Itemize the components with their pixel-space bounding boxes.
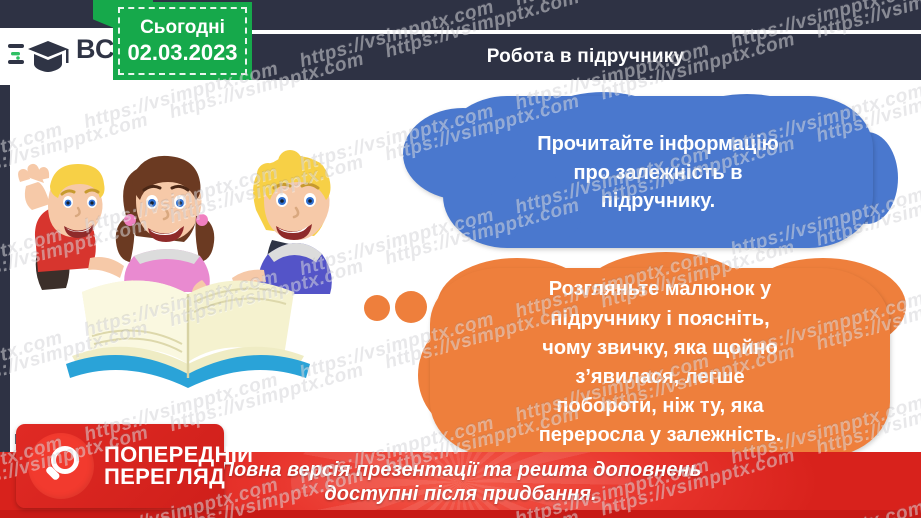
- preview-badge-label: ПОПЕРЕДНІЙ ПЕРЕГЛЯД: [104, 444, 253, 488]
- orange-line-3: чому звичку, яка щойно: [539, 334, 782, 363]
- preview-label-line-2: ПЕРЕГЛЯД: [104, 466, 253, 488]
- slide-canvas: ВСІМ pptx Сьогодні 02.03.2023 Робота в п…: [0, 0, 921, 518]
- blue-line-2: про залежність в: [537, 159, 779, 187]
- orange-bubble-tail-small: [364, 295, 390, 321]
- child-right: [230, 150, 332, 302]
- child-left: [18, 164, 124, 290]
- child-center: [116, 156, 215, 298]
- slide-title-bar: Робота в підручнику: [250, 34, 921, 80]
- banner-line-2: доступні після придбання.: [324, 482, 596, 506]
- preview-label-line-1: ПОПЕРЕДНІЙ: [104, 444, 253, 466]
- orange-line-4: з’явилася, легше: [539, 363, 782, 392]
- blue-line-3: підручнику.: [537, 187, 779, 215]
- graduation-cap-icon: [8, 36, 70, 78]
- page-title: Робота в підручнику: [487, 46, 685, 68]
- preview-icon-circle: [28, 433, 94, 499]
- speech-bubble-blue: Прочитайте інформацію про залежність в п…: [443, 96, 873, 248]
- today-date: 02.03.2023: [127, 40, 237, 66]
- magnifier-icon: [38, 443, 84, 489]
- orange-bubble-text: Розгляньте малюнок у підручнику і поясні…: [539, 275, 782, 450]
- orange-line-6: переросла у залежність.: [539, 421, 782, 450]
- orange-line-1: Розгляньте малюнок у: [539, 275, 782, 304]
- bottom-accent-strip: [0, 510, 921, 518]
- open-book: [66, 280, 310, 388]
- orange-line-5: побороти, ніж ту, яка: [539, 392, 782, 421]
- banner-line-1: Повна версія презентації та решта доповн…: [220, 458, 702, 482]
- orange-bubble-tail-large: [395, 291, 427, 323]
- today-date-badge: Сьогодні 02.03.2023: [113, 2, 252, 80]
- orange-line-2: підручнику і поясніть,: [539, 305, 782, 334]
- blue-bubble-text: Прочитайте інформацію про залежність в п…: [537, 130, 779, 215]
- preview-badge[interactable]: ПОПЕРЕДНІЙ ПЕРЕГЛЯД: [16, 424, 224, 508]
- blue-line-1: Прочитайте інформацію: [537, 130, 779, 158]
- speech-bubble-orange: Розгляньте малюнок у підручнику і поясні…: [430, 268, 890, 458]
- today-label: Сьогодні: [140, 17, 225, 39]
- children-reading-illustration: [6, 150, 376, 400]
